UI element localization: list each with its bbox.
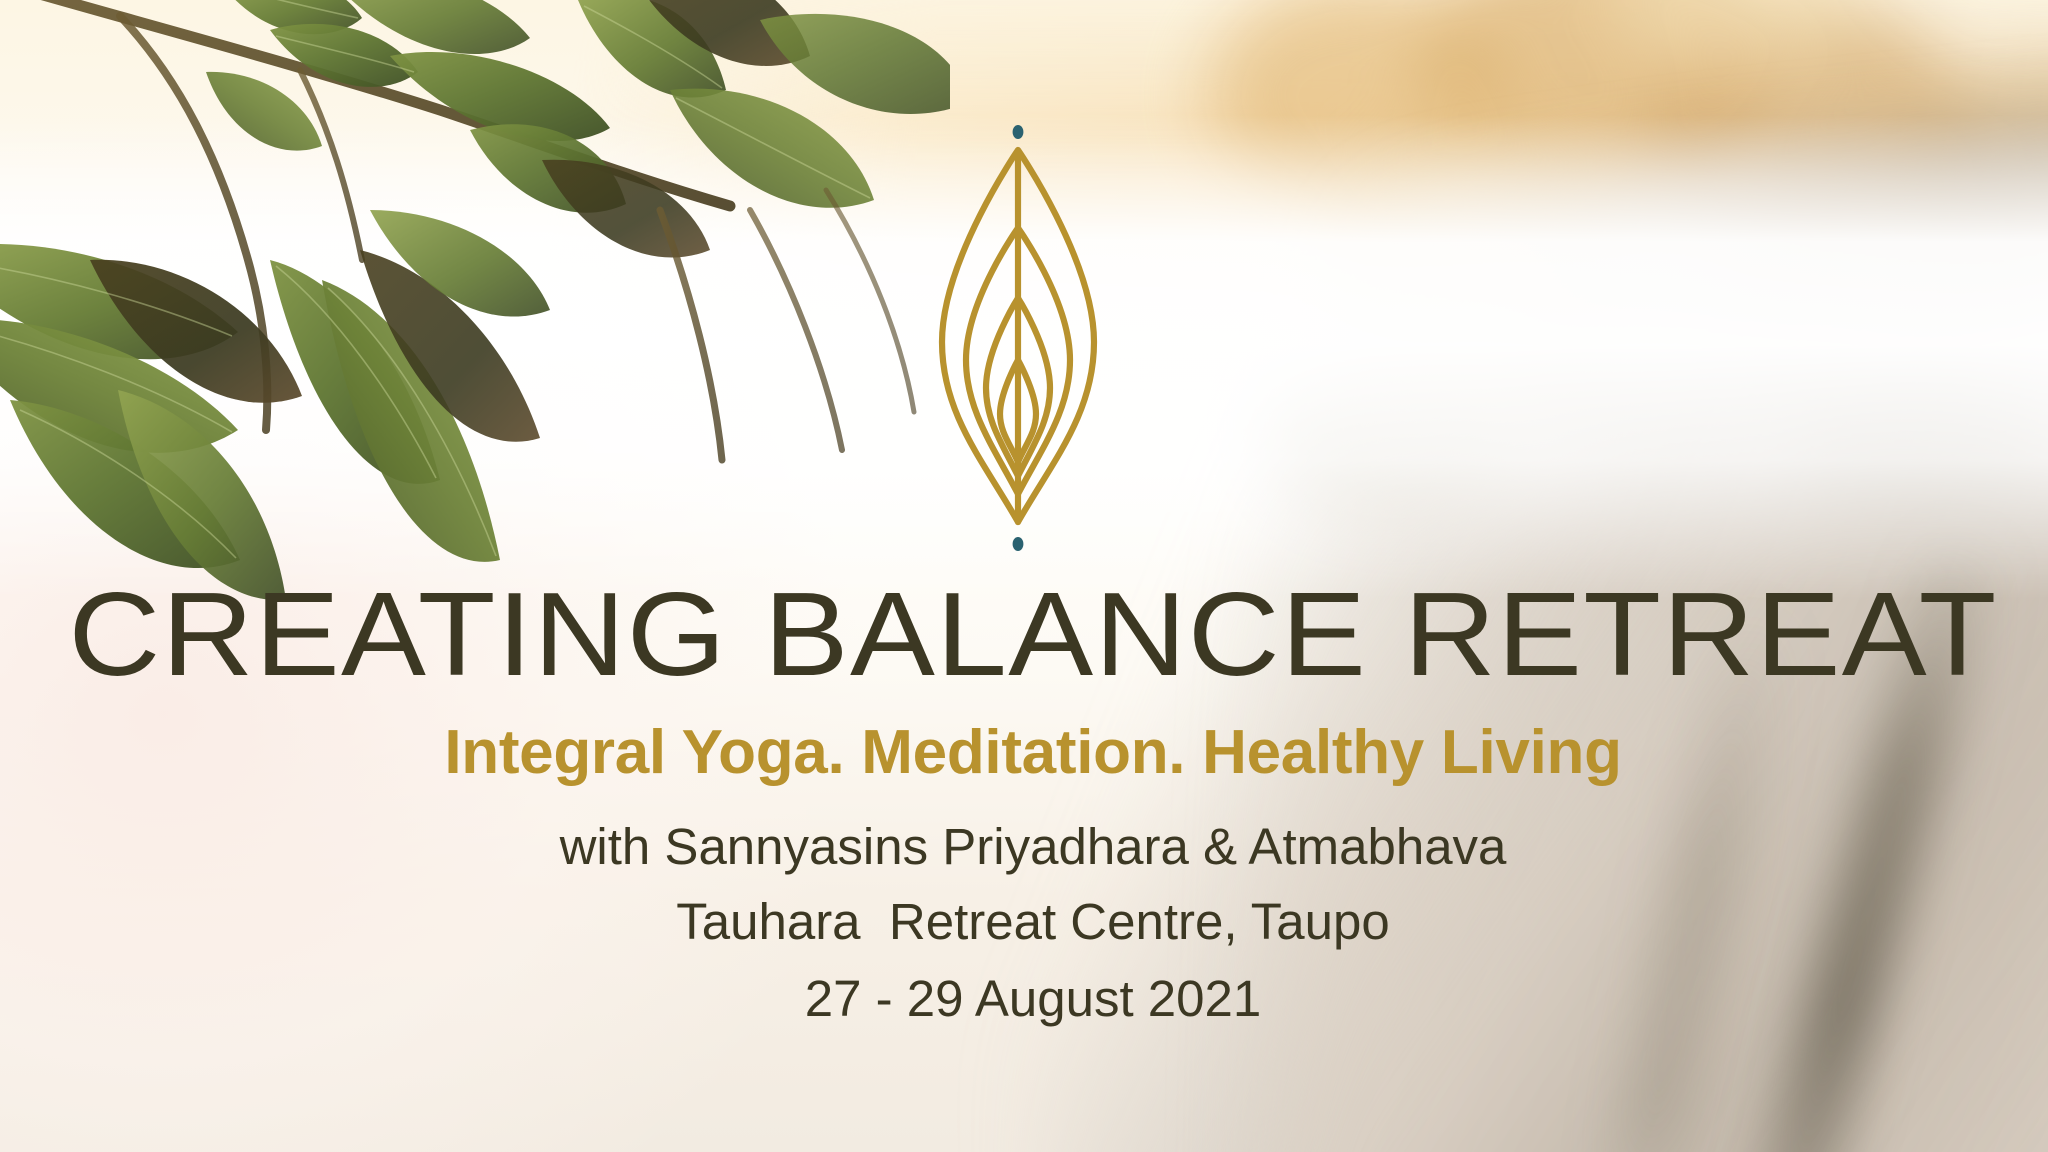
retreat-poster: CREATING BALANCE RETREAT Integral Yoga. … [0,0,2048,1152]
poster-venue: Tauhara Retreat Centre, Taupo [18,896,2048,947]
poster-dates: 27 - 29 August 2021 [18,973,2048,1024]
poster-presenters: with Sannyasins Priyadhara & Atmabhava [18,821,2048,872]
poster-text-block: CREATING BALANCE RETREAT Integral Yoga. … [0,575,2048,1024]
lotus-leaf-emblem-icon [908,110,1128,570]
page-title: CREATING BALANCE RETREAT [0,575,2048,694]
foliage-branch-illustration [0,0,950,620]
poster-subtitle: Integral Yoga. Meditation. Healthy Livin… [18,720,2048,785]
